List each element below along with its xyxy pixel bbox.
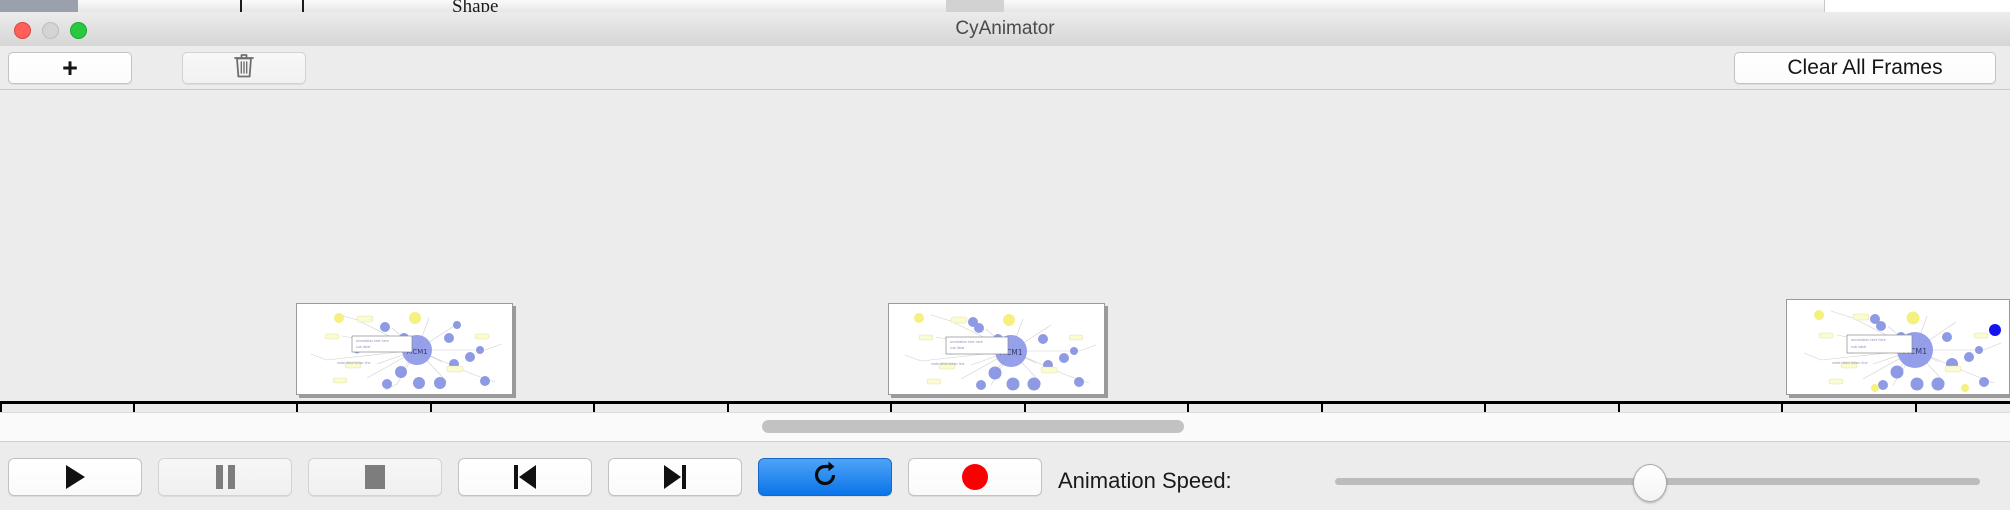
stop-icon: [365, 465, 385, 489]
axis-tick-major: [593, 404, 595, 412]
axis-tick-minor: [1024, 404, 1026, 412]
frame-toolbar: + Clear All Frames: [0, 46, 2010, 90]
record-button[interactable]: [908, 458, 1042, 496]
axis-tick-major: [0, 404, 2, 412]
pause-button[interactable]: [158, 458, 292, 496]
timeline-panel[interactable]: MCM1: [0, 90, 2010, 412]
timeline-frame-thumbnail[interactable]: MCM1: [888, 303, 1105, 395]
title-bar[interactable]: CyAnimator: [0, 12, 2010, 47]
playback-toolbar: Animation Speed:: [0, 441, 2010, 510]
background-divider: [240, 0, 242, 12]
clear-all-frames-label: Clear All Frames: [1787, 56, 1942, 80]
axis-tick-minor: [1915, 404, 1917, 412]
scrollbar-thumb[interactable]: [762, 420, 1184, 433]
svg-text:annotation text here: annotation text here: [950, 340, 983, 344]
axis-tick-minor: [1321, 404, 1323, 412]
add-frame-button[interactable]: +: [8, 52, 132, 84]
svg-text:node description line: node description line: [1832, 361, 1868, 365]
svg-text:node description line: node description line: [931, 362, 964, 366]
network-graph-preview: MCM1: [889, 304, 1102, 392]
background-tab: [268, 0, 387, 12]
next-frame-button[interactable]: [608, 458, 742, 496]
timeline-frame-thumbnail[interactable]: MCM1: [1786, 299, 2010, 395]
animation-speed-slider-thumb[interactable]: [1633, 464, 1667, 502]
axis-tick-major: [1484, 404, 1486, 412]
svg-text:annotation text here: annotation text here: [356, 339, 389, 343]
previous-frame-button[interactable]: [458, 458, 592, 496]
axis-tick-minor: [1618, 404, 1620, 412]
background-tab: [0, 0, 79, 12]
play-icon: [66, 465, 85, 489]
record-icon: [962, 464, 988, 490]
pause-icon: [216, 465, 235, 489]
timeline-frame-thumbnail[interactable]: MCM1: [296, 303, 513, 395]
skip-back-icon: [514, 465, 536, 489]
cyanimator-window: Shape CyAnimator + Clear All Frames: [0, 0, 2010, 510]
background-divider: [302, 0, 304, 12]
axis-tick-major: [1781, 404, 1783, 412]
svg-text:annotation text here: annotation text here: [1851, 338, 1886, 342]
background-app-label: Shape: [452, 0, 498, 12]
animation-speed-label: Animation Speed:: [1058, 468, 1232, 494]
svg-text:node description line: node description line: [337, 361, 370, 365]
axis-tick-major: [296, 404, 298, 412]
window-title: CyAnimator: [0, 12, 2010, 46]
background-app-strip: Shape: [0, 0, 2010, 12]
loop-icon: [810, 460, 840, 495]
axis-tick-minor: [133, 404, 135, 412]
play-button[interactable]: [8, 458, 142, 496]
svg-text:sub label: sub label: [1851, 345, 1866, 349]
skip-forward-icon: [664, 465, 686, 489]
trash-icon: [232, 52, 256, 84]
background-tab: [1004, 0, 1825, 12]
network-graph-preview: MCM1: [1787, 300, 2007, 392]
delete-frame-button[interactable]: [182, 52, 306, 84]
clear-all-frames-button[interactable]: Clear All Frames: [1734, 52, 1996, 84]
background-tab: [946, 0, 1005, 12]
timeline-scrollbar[interactable]: [0, 412, 2010, 442]
background-tab: [188, 0, 269, 12]
network-graph-preview: MCM1: [297, 304, 510, 392]
svg-text:sub label: sub label: [356, 345, 371, 349]
axis-tick-major: [890, 404, 892, 412]
axis-tick-minor: [727, 404, 729, 412]
loop-button[interactable]: [758, 458, 892, 496]
axis-tick-minor: [430, 404, 432, 412]
timeline-axis: [0, 401, 2010, 404]
svg-text:sub label: sub label: [950, 346, 965, 350]
axis-tick-major: [1187, 404, 1189, 412]
stop-button[interactable]: [308, 458, 442, 496]
background-tab: [78, 0, 189, 12]
